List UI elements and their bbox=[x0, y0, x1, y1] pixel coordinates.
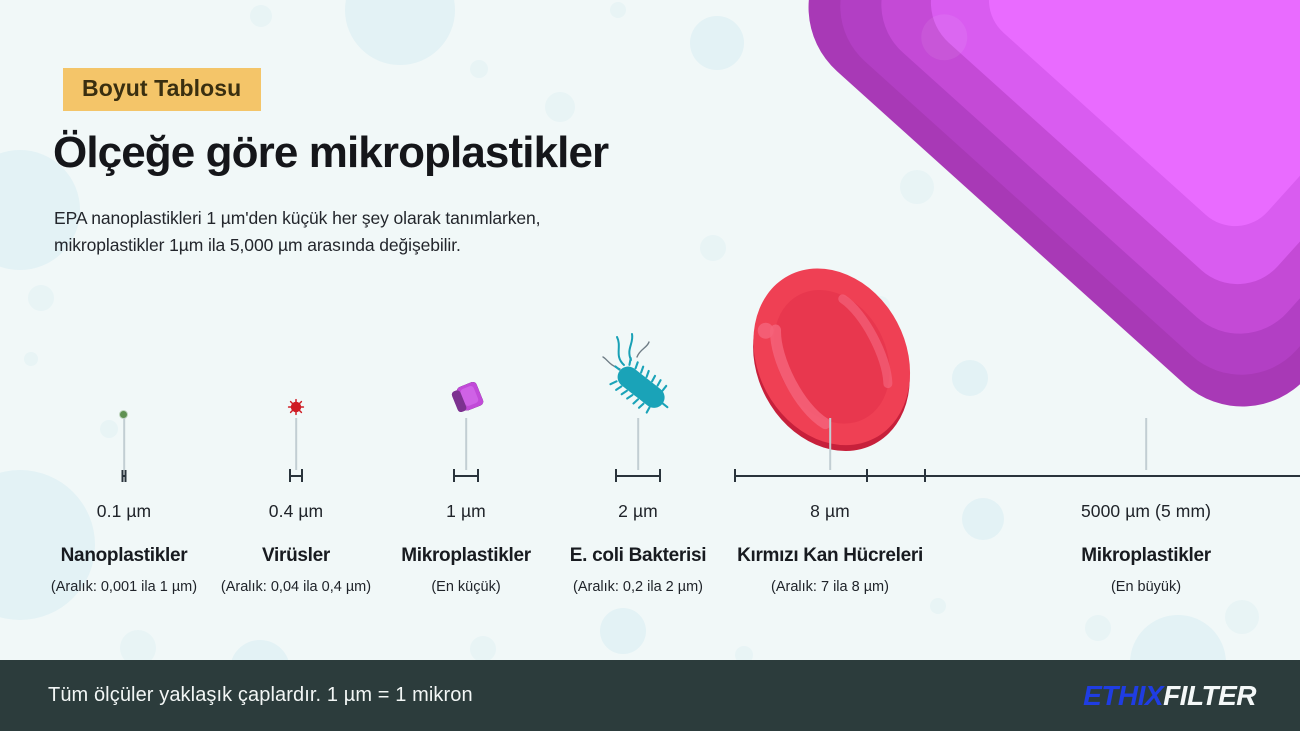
specimen-range: (En küçük) bbox=[431, 579, 500, 595]
specimen-name: Virüsler bbox=[262, 545, 330, 567]
measure-bar bbox=[289, 469, 303, 482]
specimen-name: E. coli Bakterisi bbox=[570, 545, 706, 567]
leader-line bbox=[123, 418, 125, 470]
measure-value: 0.4 µm bbox=[269, 501, 323, 522]
specimen-range: (Aralık: 0,2 ila 2 µm) bbox=[573, 579, 703, 595]
measure-cap-right bbox=[125, 470, 127, 482]
specimen-name: Mikroplastikler bbox=[1081, 545, 1211, 567]
measure-cap-right bbox=[477, 469, 479, 482]
leader-line bbox=[829, 418, 831, 470]
measure-bar bbox=[453, 469, 479, 482]
leader-line bbox=[295, 418, 297, 470]
measure-bar bbox=[615, 469, 661, 482]
leader-line bbox=[1145, 418, 1147, 470]
specimen-name: Mikroplastikler bbox=[401, 545, 531, 567]
microplastic-cube-icon bbox=[446, 377, 488, 419]
specimen-range: (En büyük) bbox=[1111, 579, 1181, 595]
leader-line bbox=[465, 418, 467, 470]
measure-bar bbox=[122, 469, 127, 482]
footer-bar: Tüm ölçüler yaklaşık çaplardır. 1 µm = 1… bbox=[0, 660, 1300, 731]
specimen-range: (Aralık: 7 ila 8 µm) bbox=[771, 579, 889, 595]
measure-value: 8 µm bbox=[810, 501, 850, 522]
measure-cap-right bbox=[301, 469, 303, 482]
measure-bar bbox=[866, 469, 1300, 482]
measure-value: 5000 µm (5 mm) bbox=[1081, 501, 1211, 522]
measure-span bbox=[617, 475, 659, 477]
leader-line bbox=[637, 418, 639, 470]
specimen-range: (Aralık: 0,001 ila 1 µm) bbox=[51, 579, 197, 595]
ecoli-bacterium-icon bbox=[600, 329, 676, 421]
scale-comparison-row: 0.1 µm Nanoplastikler (Aralık: 0,001 ila… bbox=[0, 0, 1300, 640]
nanoplastic-dot-icon bbox=[120, 411, 127, 418]
footer-note: Tüm ölçüler yaklaşık çaplardır. 1 µm = 1… bbox=[48, 684, 473, 707]
brand-logo-secondary: FILTER bbox=[1163, 680, 1256, 711]
specimen-name: Kırmızı Kan Hücreleri bbox=[737, 545, 923, 567]
infographic-canvas: Boyut Tablosu Ölçeğe göre mikroplastikle… bbox=[0, 0, 1300, 731]
specimen-name: Nanoplastikler bbox=[61, 545, 188, 567]
virus-particle-icon bbox=[286, 397, 306, 417]
brand-logo: ETHIXFILTER bbox=[1083, 680, 1256, 712]
measure-span bbox=[291, 475, 301, 477]
measure-value: 1 µm bbox=[446, 501, 486, 522]
measure-value: 2 µm bbox=[618, 501, 658, 522]
specimen-range: (Aralık: 0,04 ila 0,4 µm) bbox=[221, 579, 371, 595]
brand-logo-primary: ETHIX bbox=[1083, 680, 1163, 711]
measure-span bbox=[455, 475, 477, 477]
measure-span bbox=[868, 475, 1300, 477]
measure-cap-right bbox=[659, 469, 661, 482]
measure-value: 0.1 µm bbox=[97, 501, 151, 522]
